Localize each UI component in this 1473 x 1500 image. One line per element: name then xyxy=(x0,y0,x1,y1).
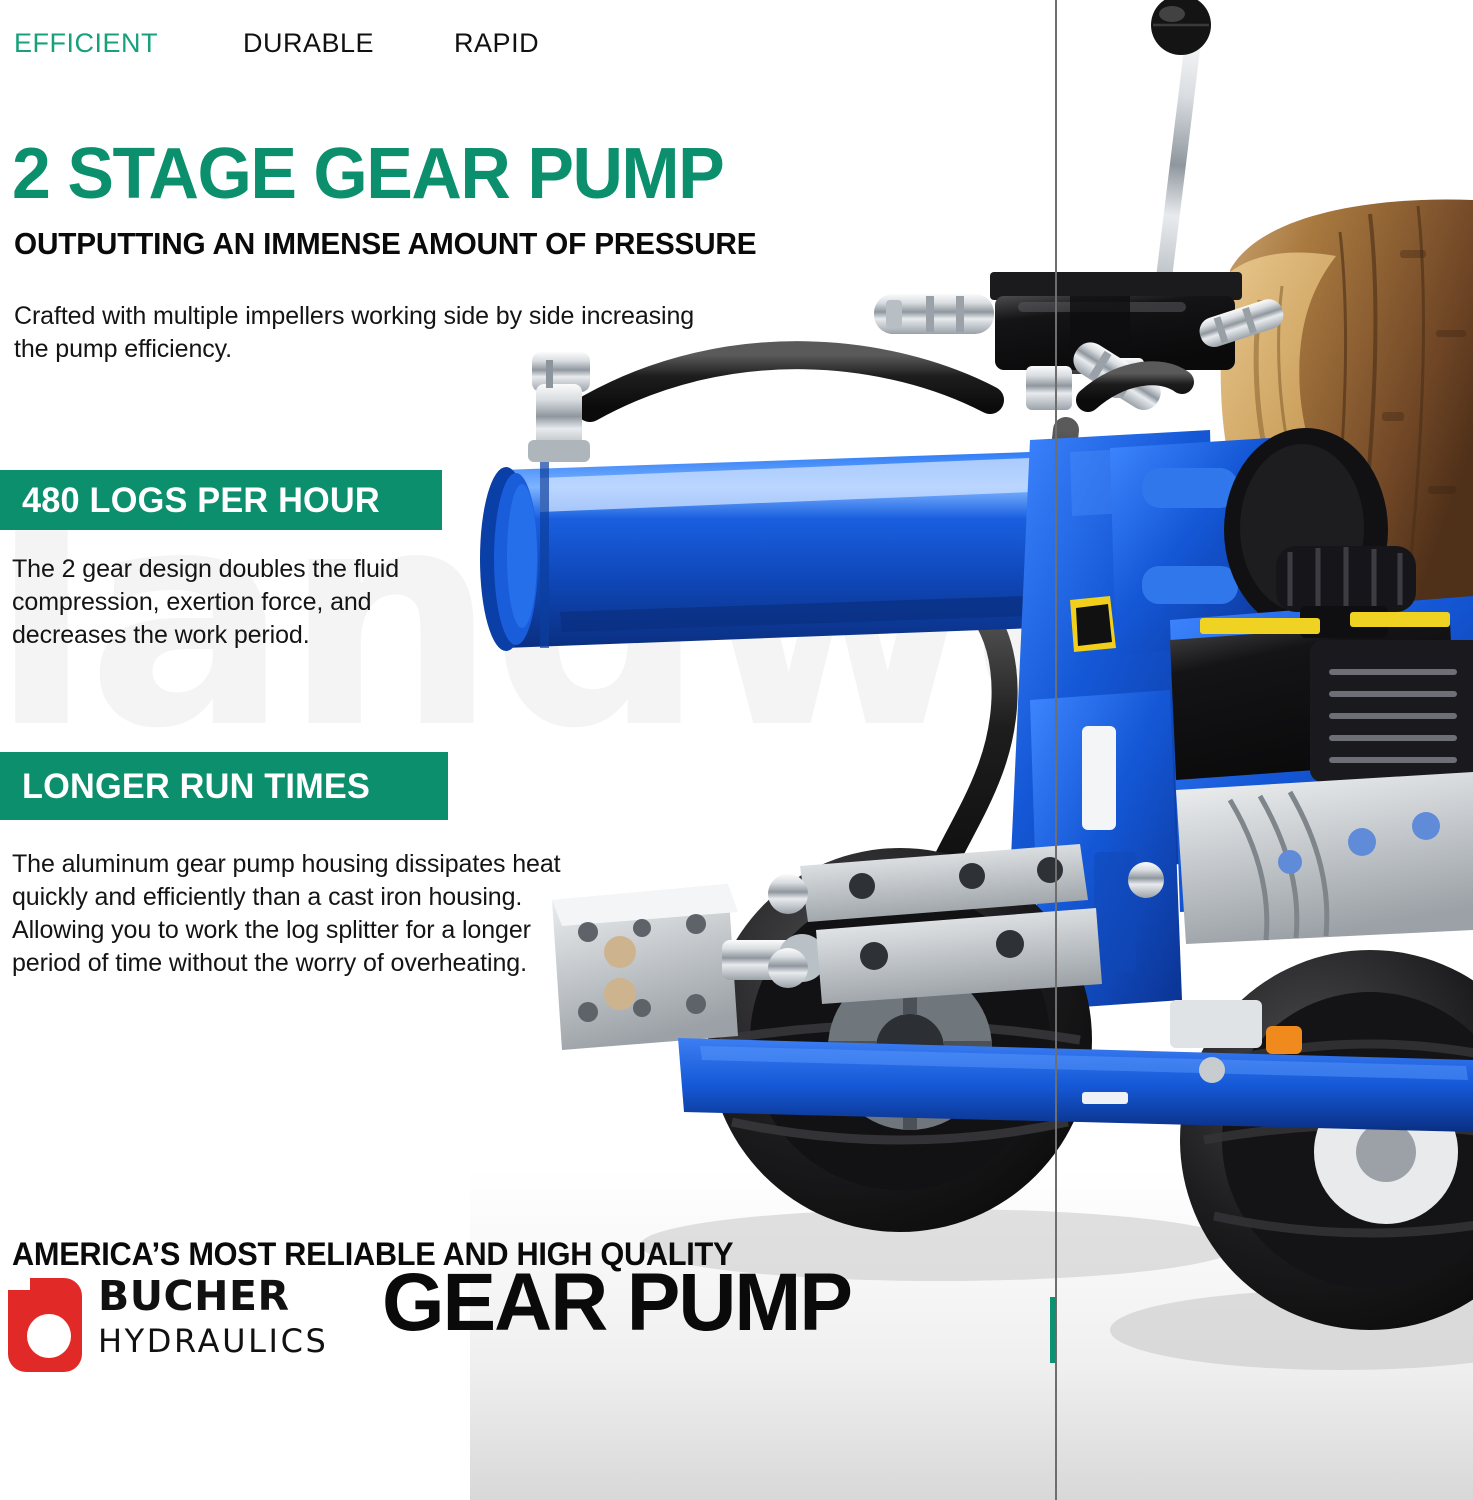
eyebrow-rapid: RAPID xyxy=(454,28,539,59)
bucher-wordmark: BUCHER HYDRAULICS xyxy=(98,1276,328,1357)
feature-badge-logs-per-hour: 480 LOGS PER HOUR xyxy=(0,470,442,530)
bucher-name: BUCHER xyxy=(98,1276,328,1317)
infographic-canvas: landworks xyxy=(0,0,1473,1500)
eyebrow-durable: DURABLE xyxy=(243,28,374,59)
feature-badge-logs-label: 480 LOGS PER HOUR xyxy=(22,483,380,518)
footer-product-name: GEAR PUMP xyxy=(382,1262,851,1344)
page-subtitle: OUTPUTTING AN IMMENSE AMOUNT OF PRESSURE xyxy=(14,228,756,259)
bucher-sub: HYDRAULICS xyxy=(98,1325,328,1357)
hydraulic-cylinder xyxy=(480,452,1036,651)
intro-paragraph: Crafted with multiple impellers working … xyxy=(14,300,714,366)
feature-body-longer-run-times: The aluminum gear pump housing dissipate… xyxy=(12,848,572,980)
feature-badge-longer-run-times: LONGER RUN TIMES xyxy=(0,752,448,820)
eyebrow-row: EFFICIENT DURABLE RAPID xyxy=(14,28,539,59)
panel-seam-accent xyxy=(1050,1297,1056,1363)
panel-seam-line xyxy=(1055,0,1057,1500)
cylinder-elbow-fitting xyxy=(528,352,590,462)
eyebrow-efficient: EFFICIENT xyxy=(14,28,158,59)
page-title: 2 STAGE GEAR PUMP xyxy=(12,138,723,210)
bucher-logo-icon xyxy=(4,1274,90,1376)
feature-badge-run-label: LONGER RUN TIMES xyxy=(22,769,370,804)
feature-body-logs-per-hour: The 2 gear design doubles the fluid comp… xyxy=(12,553,482,652)
